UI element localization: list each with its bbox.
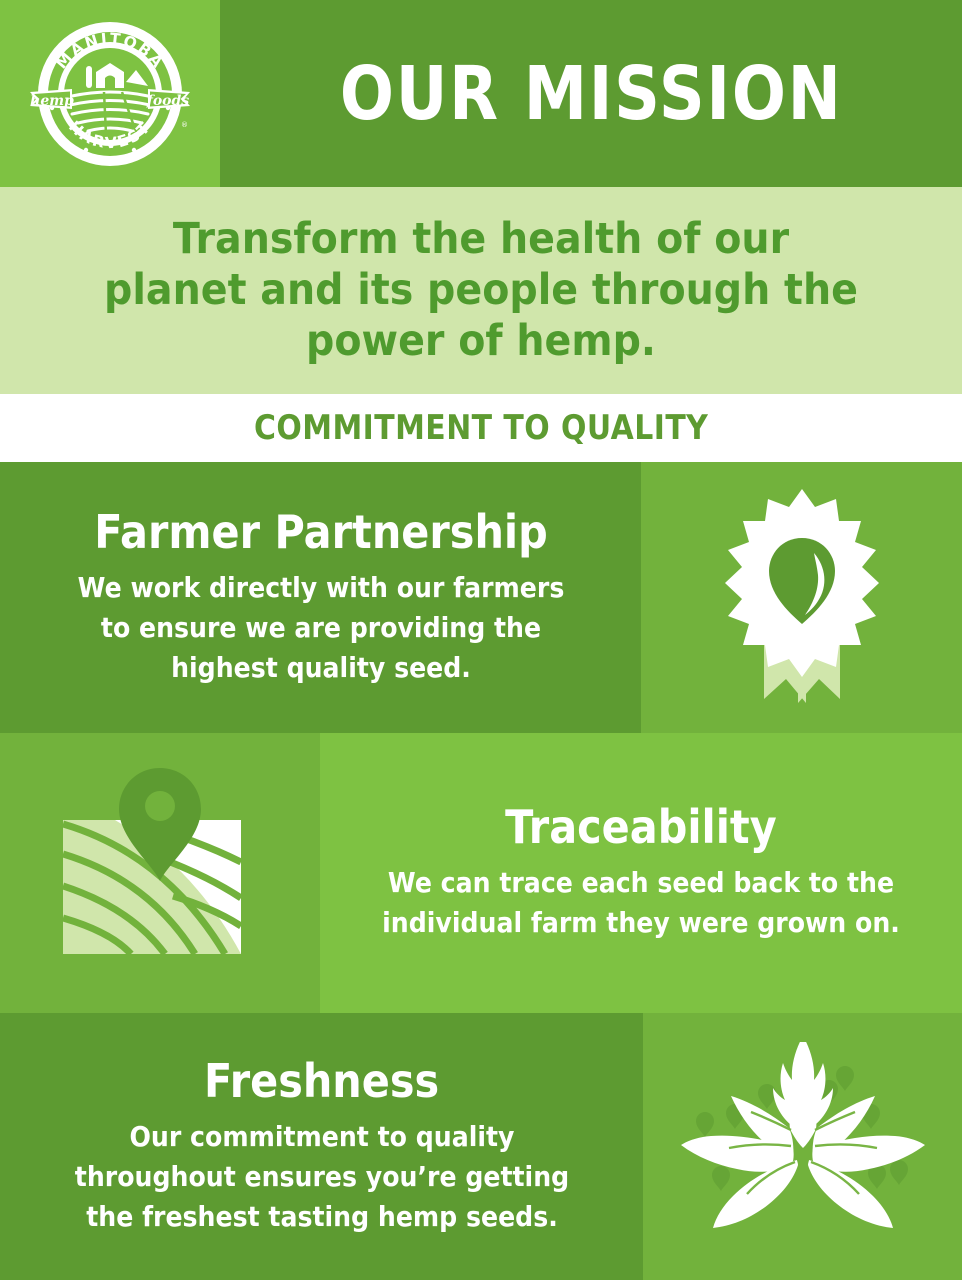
feature-icon-panel-freshness: [643, 1013, 962, 1280]
mission-statement-band: Transform the health of our planet and i…: [0, 187, 962, 394]
feature-text-freshness: Freshness Our commitment to quality thro…: [0, 1013, 643, 1280]
logo-banner-left-text: hemp: [30, 93, 74, 109]
commitment-heading: COMMITMENT TO QUALITY: [254, 408, 708, 448]
award-ribbon-seed-icon: [702, 483, 902, 713]
farm-field-map-pin-icon: [45, 758, 275, 988]
mission-statement-text: Transform the health of our planet and i…: [38, 214, 923, 366]
commitment-band: COMMITMENT TO QUALITY: [0, 394, 962, 462]
feature-title: Farmer Partnership: [94, 508, 548, 556]
manitoba-harvest-logo: MANITOBA HARVEST hemp: [26, 10, 194, 178]
logo-banner-right-text: foods: [146, 93, 189, 109]
feature-description: We can trace each seed back to the indiv…: [371, 863, 911, 943]
hemp-plant-seeds-icon: [663, 1042, 943, 1252]
feature-text-farmer-partnership: Farmer Partnership We work directly with…: [0, 462, 641, 733]
feature-icon-panel-traceability: [0, 733, 320, 1013]
logo-trademark-symbol: ®: [181, 121, 188, 129]
feature-text-traceability: Traceability We can trace each seed back…: [320, 733, 962, 1013]
feature-title: Traceability: [505, 803, 777, 851]
feature-row-traceability: Traceability We can trace each seed back…: [0, 733, 962, 1013]
our-mission-infographic: MANITOBA HARVEST hemp: [0, 0, 962, 1280]
logo-panel: MANITOBA HARVEST hemp: [0, 0, 220, 187]
feature-description: Our commitment to quality throughout ens…: [70, 1117, 574, 1236]
header-title-panel: OUR MISSION: [220, 0, 962, 187]
feature-icon-panel-farmer-partnership: [641, 462, 962, 733]
feature-row-freshness: Freshness Our commitment to quality thro…: [0, 1013, 962, 1280]
feature-title: Freshness: [204, 1057, 439, 1105]
feature-row-farmer-partnership: Farmer Partnership We work directly with…: [0, 462, 962, 733]
header: MANITOBA HARVEST hemp: [0, 0, 962, 187]
feature-description: We work directly with our farmers to ens…: [69, 568, 573, 687]
page-title: OUR MISSION: [340, 57, 843, 131]
